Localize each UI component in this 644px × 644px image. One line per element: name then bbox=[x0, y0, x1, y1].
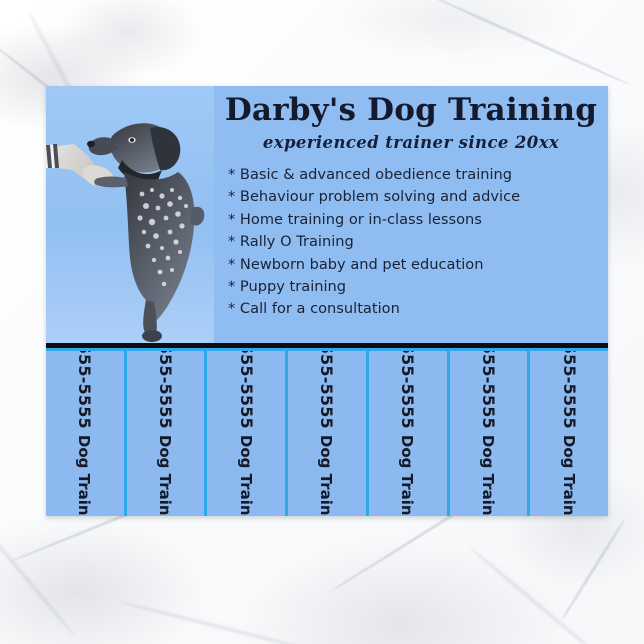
tear-off-tab[interactable]: Dog Trainer 555-555-5555 bbox=[288, 351, 369, 516]
flyer-title: Darby's Dog Training bbox=[214, 92, 608, 128]
tab-phone-number: 555-555-5555 bbox=[560, 351, 579, 429]
benefit-item: * Home training or in-class lessons bbox=[228, 209, 608, 231]
tab-phone-number: 555-555-5555 bbox=[318, 351, 337, 429]
benefit-item: * Call for a consultation bbox=[228, 298, 608, 320]
tab-role-label: Dog Trainer bbox=[318, 435, 336, 516]
dog-training-flyer: Darby's Dog Training experienced trainer… bbox=[46, 86, 608, 516]
tear-off-tab[interactable]: Dog Trainer 555-555-5555 bbox=[127, 351, 208, 516]
tear-off-tab[interactable]: Dog Trainer 555-555-5555 bbox=[46, 351, 127, 516]
tear-off-tab-content: Dog Trainer 555-555-5555 bbox=[318, 351, 337, 516]
tear-off-tab[interactable]: Dog Trainer 555-555-5555 bbox=[207, 351, 288, 516]
tab-role-label: Dog Trainer bbox=[560, 435, 578, 516]
tab-phone-number: 555-555-5555 bbox=[75, 351, 94, 429]
tab-role-label: Dog Trainer bbox=[237, 435, 255, 516]
benefit-item: * Puppy training bbox=[228, 276, 608, 298]
tear-off-tab-content: Dog Trainer 555-555-5555 bbox=[75, 351, 94, 516]
screenshot-canvas: Darby's Dog Training experienced trainer… bbox=[0, 0, 644, 644]
benefit-item: * Behaviour problem solving and advice bbox=[228, 186, 608, 208]
benefits-list: * Basic & advanced obedience training * … bbox=[228, 164, 608, 321]
dog-photo bbox=[46, 86, 214, 343]
benefit-item: * Newborn baby and pet education bbox=[228, 254, 608, 276]
tab-phone-number: 555-555-5555 bbox=[237, 351, 256, 429]
tear-off-tab[interactable]: Dog Trainer 555-555-5555 bbox=[450, 351, 531, 516]
tear-off-tab-content: Dog Trainer 555-555-5555 bbox=[479, 351, 498, 516]
tear-off-tab-strip: Dog Trainer 555-555-5555 Dog Trainer 555… bbox=[46, 351, 608, 516]
tab-role-label: Dog Trainer bbox=[479, 435, 497, 516]
tear-off-tab-content: Dog Trainer 555-555-5555 bbox=[237, 351, 256, 516]
tear-off-tab-content: Dog Trainer 555-555-5555 bbox=[156, 351, 175, 516]
tear-off-tab-content: Dog Trainer 555-555-5555 bbox=[398, 351, 417, 516]
tab-role-label: Dog Trainer bbox=[399, 435, 417, 516]
tab-role-label: Dog Trainer bbox=[76, 435, 94, 516]
flyer-subtitle: experienced trainer since 20xx bbox=[214, 133, 608, 152]
tab-role-label: Dog Trainer bbox=[157, 435, 175, 516]
benefit-item: * Basic & advanced obedience training bbox=[228, 164, 608, 186]
tab-phone-number: 555-555-5555 bbox=[398, 351, 417, 429]
tear-off-tab-content: Dog Trainer 555-555-5555 bbox=[560, 351, 579, 516]
flyer-body: Darby's Dog Training experienced trainer… bbox=[46, 86, 608, 343]
tab-phone-number: 555-555-5555 bbox=[156, 351, 175, 429]
tear-off-tab[interactable]: Dog Trainer 555-555-5555 bbox=[530, 351, 608, 516]
benefit-item: * Rally O Training bbox=[228, 231, 608, 253]
tab-phone-number: 555-555-5555 bbox=[479, 351, 498, 429]
tear-off-tab[interactable]: Dog Trainer 555-555-5555 bbox=[369, 351, 450, 516]
